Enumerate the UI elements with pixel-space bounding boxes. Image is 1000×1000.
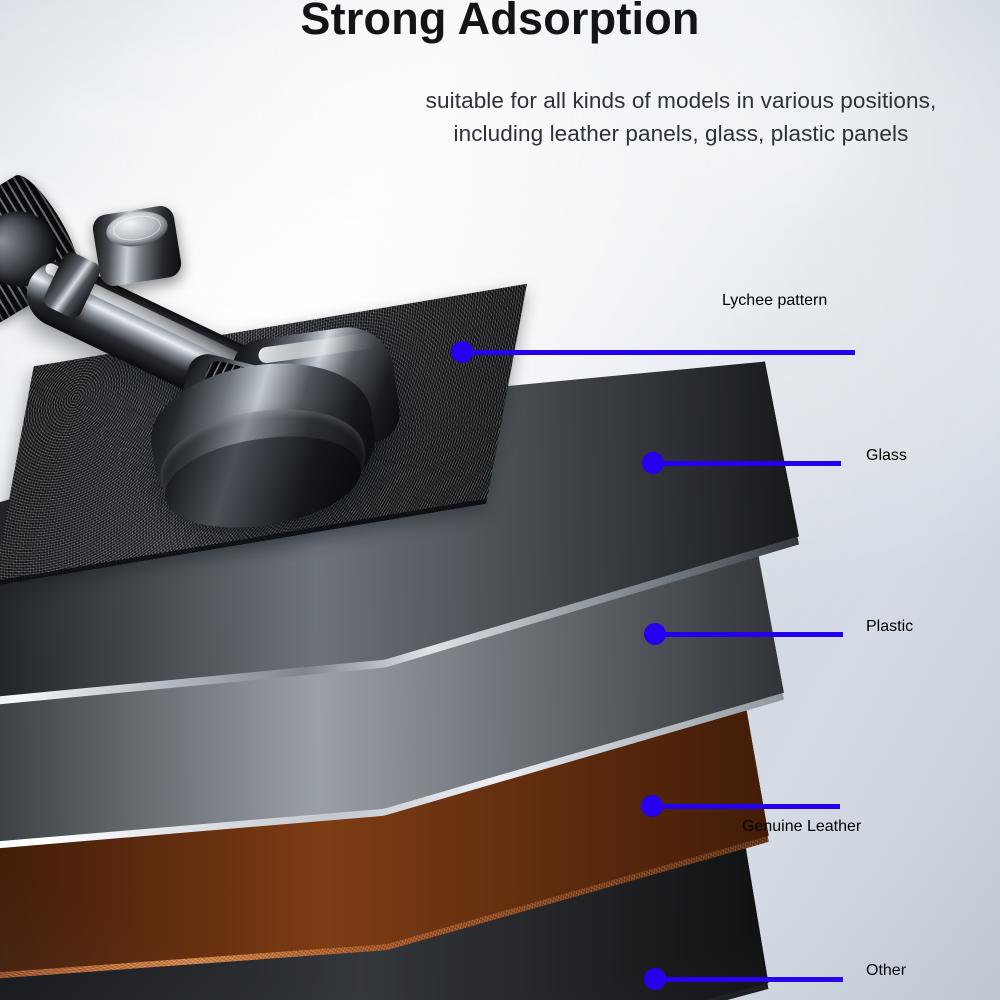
callout-label-plastic: Plastic	[866, 618, 913, 636]
callout-label-genuine-leather: Genuine Leather	[742, 818, 861, 836]
product-infographic-canvas: Lychee pattern Glass Plastic Genuine Lea…	[0, 0, 1000, 1000]
callout-line	[655, 977, 843, 982]
suction-cup-mount	[0, 95, 420, 445]
callout-line	[655, 632, 843, 637]
page-title: Strong Adsorption	[0, 0, 1000, 44]
callout-dot	[451, 341, 473, 363]
callout-label-text: Glass	[866, 447, 907, 464]
callout-dot	[644, 968, 666, 990]
callout-label-other: Other	[866, 962, 906, 980]
callout-dot	[642, 452, 664, 474]
callout-label-text: Other	[866, 962, 906, 979]
callout-line	[462, 350, 855, 355]
page-subtitle: suitable for all kinds of models in vari…	[400, 84, 962, 150]
callout-label-text: Plastic	[866, 618, 913, 635]
callout-line	[652, 804, 840, 809]
callout-line	[653, 461, 841, 466]
callout-label-text: Lychee pattern	[722, 292, 827, 309]
callout-dot	[641, 795, 663, 817]
callout-label-text: Genuine Leather	[742, 818, 861, 835]
callout-label-lychee-pattern: Lychee pattern	[722, 292, 827, 310]
callout-dot	[644, 623, 666, 645]
callout-label-glass: Glass	[866, 447, 907, 465]
